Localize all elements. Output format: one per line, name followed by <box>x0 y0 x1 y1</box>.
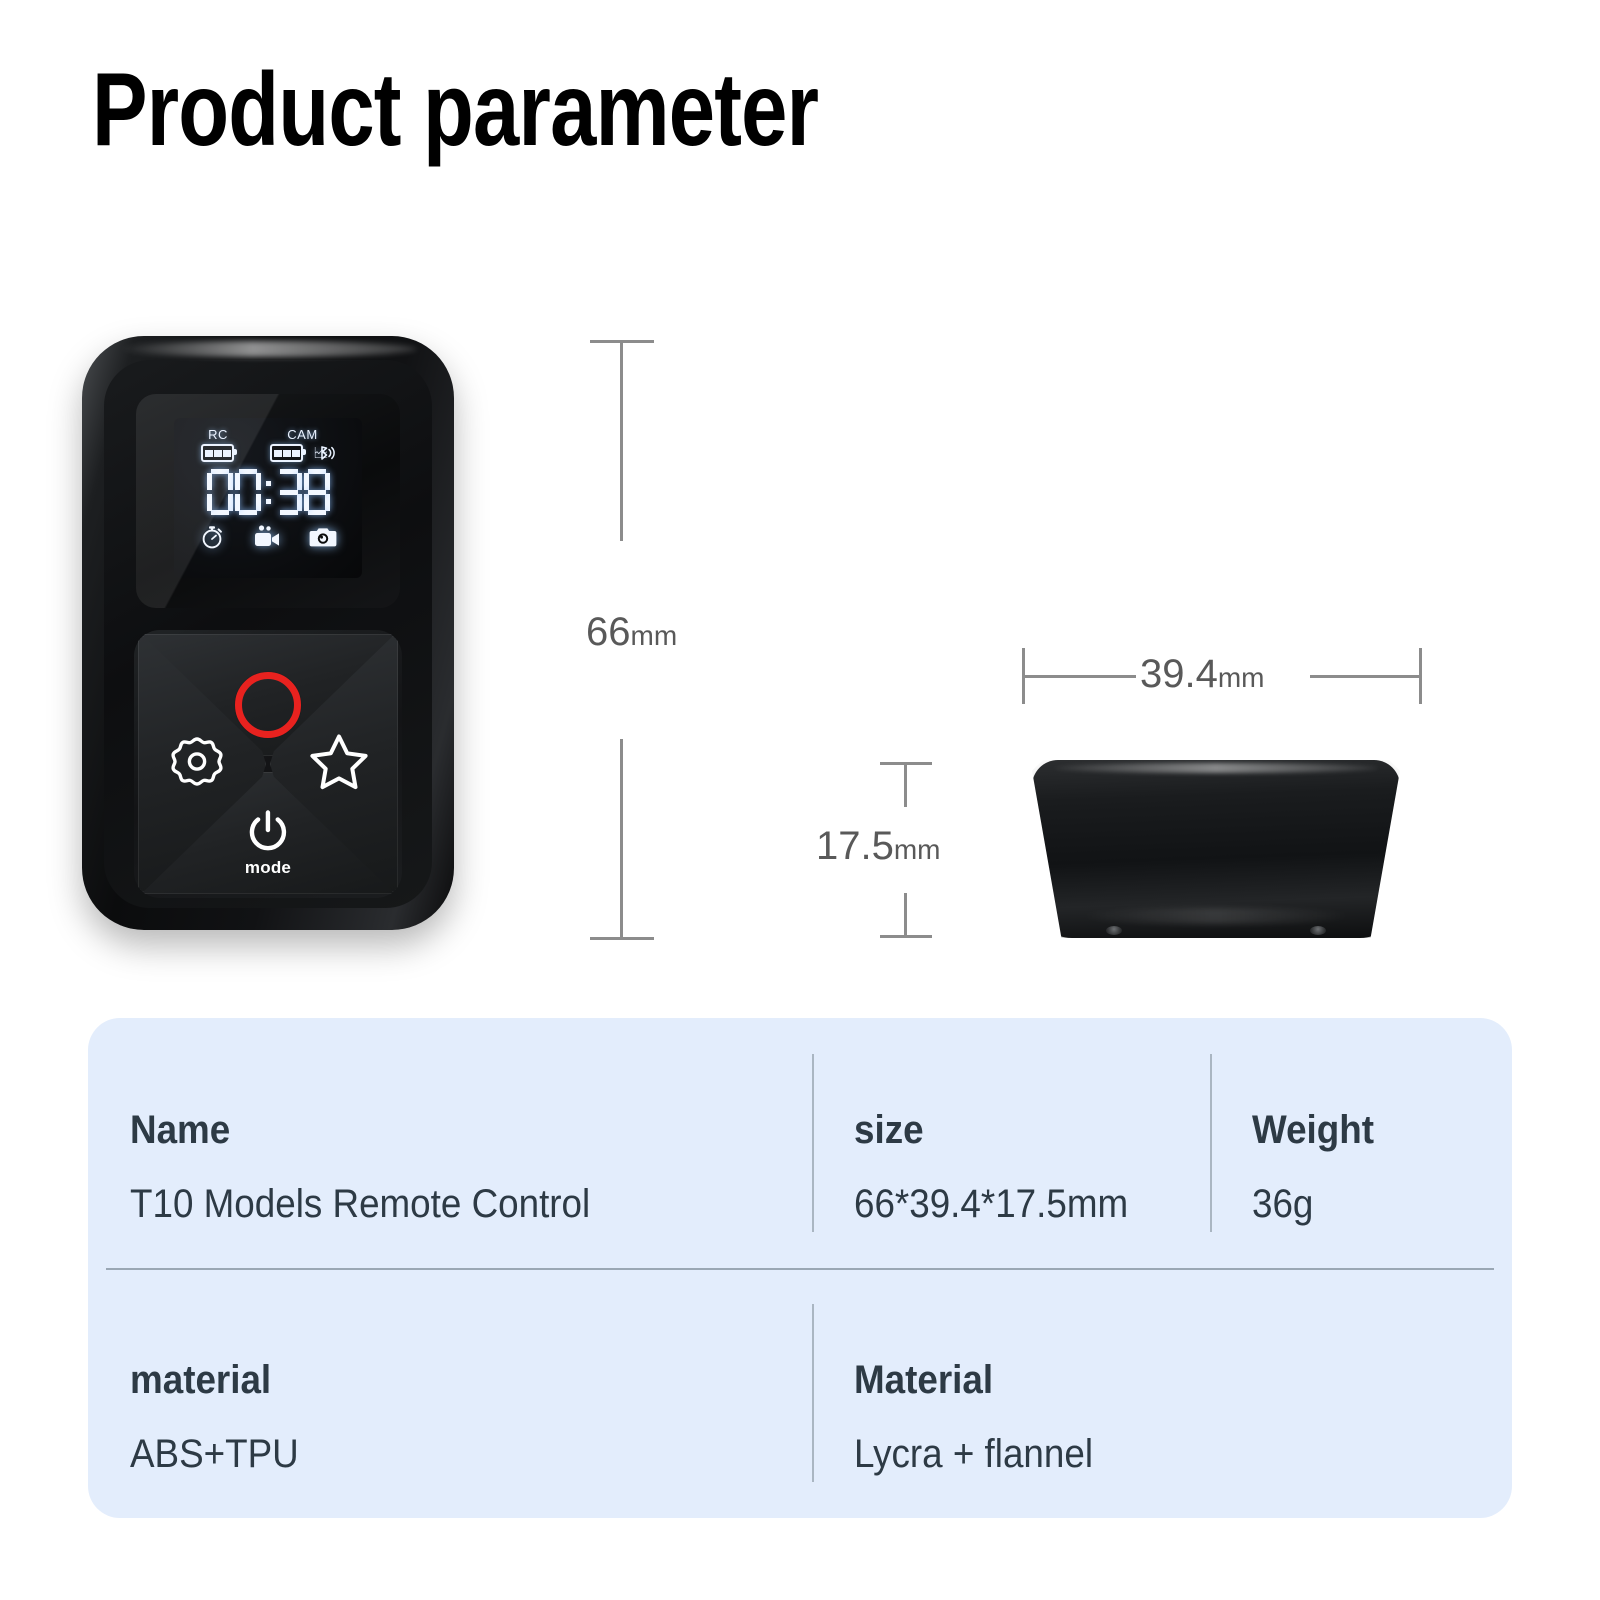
shutter-record-icon[interactable] <box>235 672 301 738</box>
battery-icon <box>201 444 234 462</box>
colon-separator <box>263 469 274 515</box>
digit-1 <box>235 469 261 515</box>
side-top-highlight <box>1054 763 1378 773</box>
star-icon[interactable] <box>308 732 370 797</box>
cam-battery-group: 🗠 <box>270 444 334 462</box>
button-pad: mode <box>134 630 402 898</box>
lcd-screen: RC CAM 🗠 <box>174 418 362 578</box>
timer-display <box>207 469 330 515</box>
dimension-cap-bottom <box>880 935 932 938</box>
dimension-line-left <box>1024 675 1136 678</box>
spec-value: 66*39.4*17.5mm <box>854 1184 1182 1224</box>
dimension-line-lower <box>904 893 907 937</box>
spec-value: ABS+TPU <box>130 1434 757 1474</box>
screen-status-row: RC CAM 🗠 <box>201 428 334 462</box>
spec-key: size <box>854 1110 1182 1150</box>
page-title: Product parameter <box>92 58 818 162</box>
video-camera-icon <box>252 525 282 549</box>
dimension-line-lower <box>620 739 623 939</box>
timer-icon <box>199 524 225 550</box>
dimension-line-right <box>1310 675 1420 678</box>
dimension-depth-value: 17.5 <box>816 824 894 868</box>
dimension-line-upper <box>620 341 623 541</box>
screen-mode-icons <box>199 524 337 550</box>
column-divider <box>812 1054 814 1232</box>
dimension-height-value: 66 <box>586 610 631 654</box>
remote-front-view: RC CAM 🗠 <box>82 336 454 930</box>
rc-label: RC <box>208 428 228 441</box>
dimension-depth: 17.5mm <box>866 762 1016 938</box>
column-divider <box>812 1304 814 1482</box>
dimension-width-value: 39.4 <box>1140 652 1218 696</box>
remote-shell: RC CAM 🗠 <box>82 336 454 930</box>
dimension-depth-label: 17.5mm <box>816 824 941 869</box>
dimension-height-unit: mm <box>631 620 678 651</box>
dimension-width: 39.4mm <box>1022 648 1422 708</box>
dimension-height: 66mm <box>566 330 726 950</box>
spec-cell-material-body: material ABS+TPU <box>88 1268 812 1518</box>
table-row: Name T10 Models Remote Control size 66*3… <box>88 1018 1512 1268</box>
digit-0 <box>207 469 233 515</box>
table-row: material ABS+TPU Material Lycra + flanne… <box>88 1268 1512 1518</box>
remote-inner-body: RC CAM 🗠 <box>104 360 432 908</box>
spec-value: Lycra + flannel <box>854 1434 1459 1474</box>
rc-status: RC <box>201 428 234 462</box>
spec-key: Weight <box>1252 1110 1491 1150</box>
spec-key: Name <box>130 1110 757 1150</box>
power-icon[interactable] <box>245 809 291 855</box>
dimension-cap-bottom <box>590 937 654 940</box>
spec-cell-name: Name T10 Models Remote Control <box>88 1018 812 1268</box>
dimension-width-label: 39.4mm <box>1140 652 1265 697</box>
screw-icon <box>1106 926 1122 935</box>
spec-value: 36g <box>1252 1184 1491 1224</box>
spec-value: T10 Models Remote Control <box>130 1184 757 1224</box>
remote-side-body <box>1032 760 1400 938</box>
dimension-depth-unit: mm <box>894 834 941 865</box>
mode-label: mode <box>245 859 291 876</box>
dimension-width-unit: mm <box>1218 662 1265 693</box>
cam-label: CAM <box>287 428 317 441</box>
bluetooth-signal-icon <box>317 445 335 461</box>
battery-icon <box>270 444 303 462</box>
cam-status: CAM 🗠 <box>270 428 334 462</box>
photo-camera-icon <box>309 525 337 549</box>
digit-3 <box>304 469 330 515</box>
screw-icon <box>1310 926 1326 935</box>
spec-key: Material <box>854 1360 1459 1400</box>
spec-table: Name T10 Models Remote Control size 66*3… <box>88 1018 1512 1518</box>
digit-2 <box>276 469 302 515</box>
power-mode-control[interactable]: mode <box>245 809 291 876</box>
gear-icon[interactable] <box>166 731 228 798</box>
spec-cell-weight: Weight 36g <box>1210 1018 1512 1268</box>
spec-cell-size: size 66*39.4*17.5mm <box>812 1018 1210 1268</box>
dimension-cap-right <box>1419 648 1422 704</box>
dimension-height-label: 66mm <box>586 610 677 655</box>
spec-cell-material-case: Material Lycra + flannel <box>812 1268 1512 1518</box>
dimension-line-upper <box>904 763 907 807</box>
side-bottom-highlight <box>1076 908 1356 924</box>
remote-side-view <box>1032 760 1400 938</box>
screen-bezel: RC CAM 🗠 <box>136 394 400 608</box>
rc-battery-group <box>201 444 234 462</box>
spec-key: material <box>130 1360 757 1400</box>
column-divider <box>1210 1054 1212 1232</box>
